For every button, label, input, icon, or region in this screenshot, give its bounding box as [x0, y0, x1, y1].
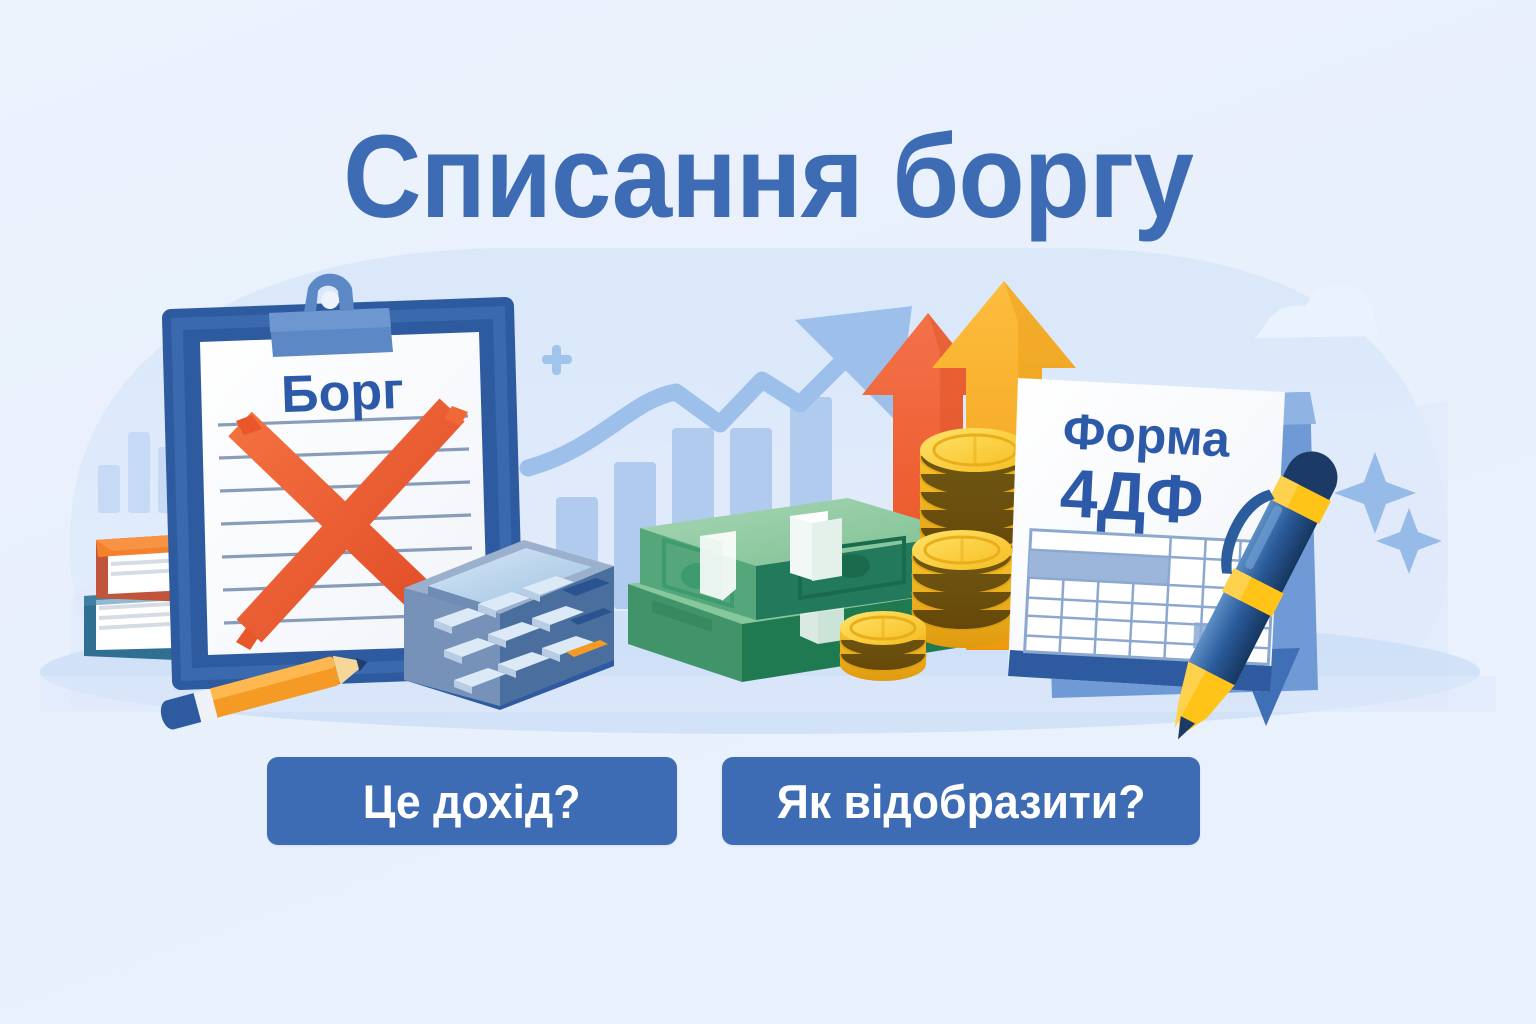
- is-income-button-label: Це дохід?: [363, 774, 581, 829]
- how-to-report-button[interactable]: Як відобразити?: [722, 757, 1200, 845]
- is-income-button[interactable]: Це дохід?: [267, 757, 677, 845]
- foreground-illustration: Борг: [0, 0, 1536, 1024]
- form-title-line2: 4ДФ: [1058, 455, 1205, 538]
- how-to-report-button-label: Як відобразити?: [777, 774, 1146, 829]
- illustration-banner: Списання боргу: [0, 0, 1536, 1024]
- coin-stack-small: [840, 611, 926, 681]
- clipboard-label: Борг: [280, 362, 405, 424]
- coin-stack-mid: [912, 530, 1012, 648]
